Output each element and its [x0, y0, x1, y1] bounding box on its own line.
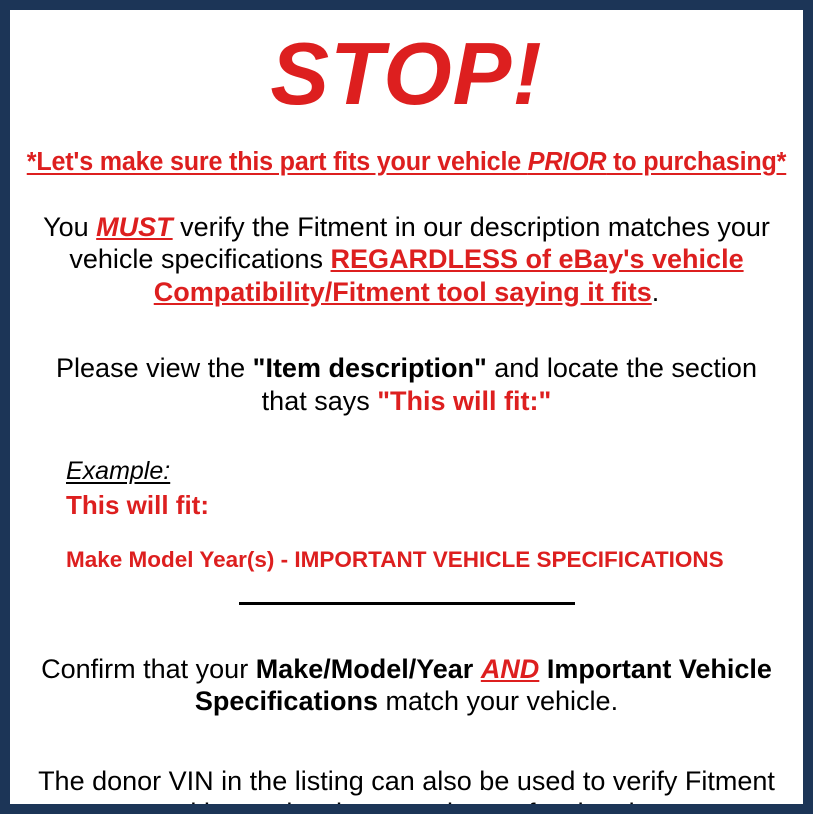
subtitle-suffix: to purchasing* [606, 148, 786, 176]
paragraph-donor-vin: The donor VIN in the listing can also be… [20, 765, 793, 814]
paragraph-must-verify: You MUST verify the Fitment in our descr… [20, 211, 793, 308]
notice-content: STOP! *Let's make sure this part fits yo… [10, 10, 803, 804]
subtitle-banner: *Let's make sure this part fits your veh… [26, 148, 787, 177]
emphasis-and: AND [481, 654, 540, 684]
confirm-seg1: Confirm that your [41, 654, 256, 684]
example-fit-line: This will fit: [66, 490, 793, 521]
paragraph-item-description: Please view the "Item description" and l… [20, 352, 793, 417]
paragraph-confirm-match: Confirm that your Make/Model/Year AND Im… [20, 653, 793, 718]
example-label: Example: [66, 457, 170, 486]
separator-wrap [20, 595, 793, 613]
emphasis-this-will-fit: "This will fit:" [377, 386, 551, 416]
confirm-seg4: match your vehicle. [378, 686, 618, 716]
example-spec-line: Make Model Year(s) - IMPORTANT VEHICLE S… [66, 547, 793, 573]
must-seg1: You [43, 212, 96, 242]
emphasis-must: MUST [96, 212, 173, 242]
example-block: Example: This will fit: Make Model Year(… [20, 457, 793, 573]
emphasis-item-description: "Item description" [253, 353, 487, 383]
confirm-seg3 [539, 654, 547, 684]
confirm-seg2 [473, 654, 481, 684]
desc-seg1: Please view the [56, 353, 253, 383]
stop-heading: STOP! [20, 30, 793, 118]
subtitle-emphasis-prior: PRIOR [528, 148, 607, 176]
must-seg3: . [652, 277, 660, 307]
subtitle-prefix: *Let's make sure this part fits your veh… [27, 148, 528, 176]
emphasis-make-model-year: Make/Model/Year [256, 654, 474, 684]
example-label-row: Example: [66, 457, 793, 486]
horizontal-divider [239, 602, 575, 605]
fitment-notice-card: STOP! *Let's make sure this part fits yo… [0, 0, 813, 814]
